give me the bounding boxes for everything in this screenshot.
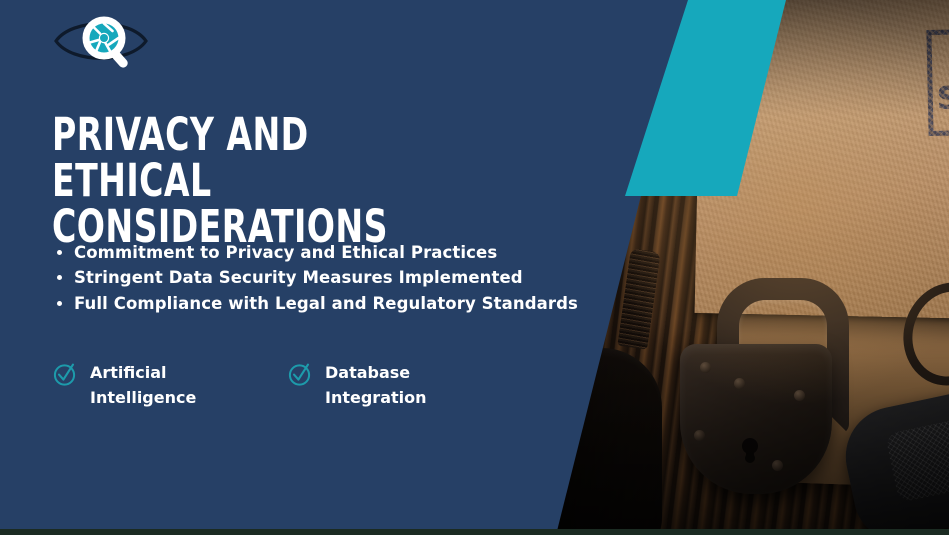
slide-content: Privacy and Ethical Considerations Commi…	[0, 0, 949, 535]
feature-artificial-intelligence: Artificial Intelligence	[52, 360, 287, 410]
list-item: Full Compliance with Legal and Regulator…	[52, 291, 612, 316]
slide-canvas: TOP SECRET	[0, 0, 949, 535]
list-item: Commitment to Privacy and Ethical Practi…	[52, 240, 612, 265]
bullet-list: Commitment to Privacy and Ethical Practi…	[52, 240, 612, 316]
feature-label: Artificial Intelligence	[90, 360, 196, 410]
bottom-strip	[0, 529, 949, 535]
list-item: Stringent Data Security Measures Impleme…	[52, 265, 612, 290]
page-title: Privacy and Ethical Considerations	[52, 112, 437, 250]
aperture-icon	[90, 24, 119, 53]
eye-magnifier-logo-svg	[52, 12, 150, 70]
feature-row: Artificial Intelligence Database Integra…	[52, 360, 542, 410]
feature-label: Database Integration	[325, 360, 427, 410]
title-line-1: Privacy and Ethical	[52, 112, 437, 204]
check-circle-icon	[52, 361, 78, 392]
eye-magnifier-logo[interactable]	[52, 12, 150, 70]
check-circle-icon	[287, 361, 313, 392]
feature-database-integration: Database Integration	[287, 360, 522, 410]
